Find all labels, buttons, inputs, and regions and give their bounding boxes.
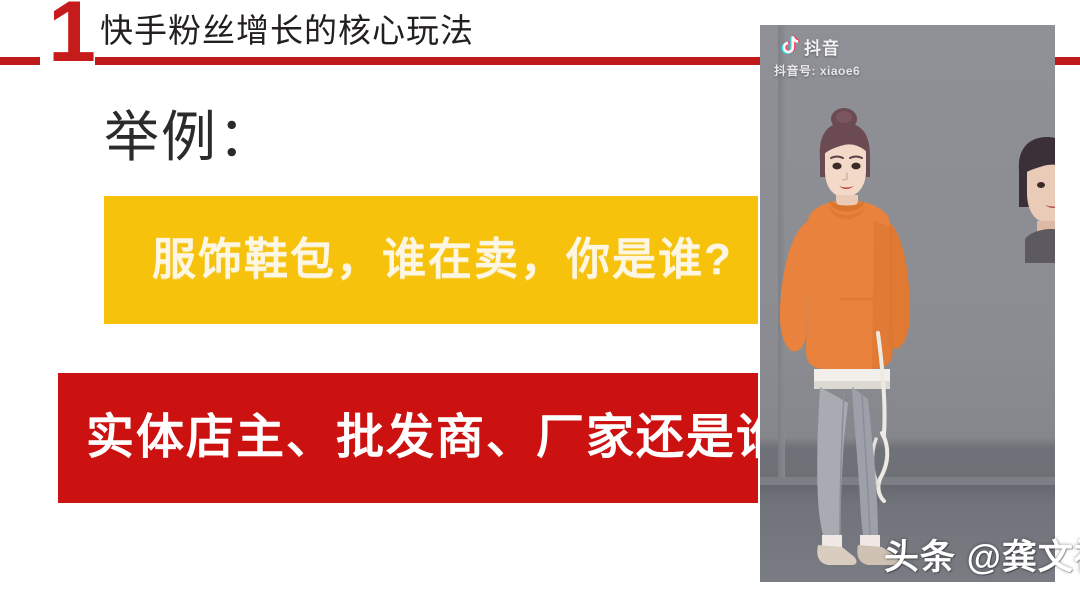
page-title: 快手粉丝增长的核心玩法 [100, 11, 474, 51]
douyin-app-name: 抖音 [804, 34, 840, 59]
slide-canvas: 1 快手粉丝增长的核心玩法 举例： 服饰鞋包，谁在卖，你是谁? 实体店主、批发商… [0, 0, 1080, 598]
douyin-account-id: 抖音号: xiaoe6 [774, 62, 974, 79]
douyin-watermark: 抖音 抖音号: xiaoe6 [774, 33, 974, 79]
yellow-callout-text: 服饰鞋包，谁在卖，你是谁? [104, 233, 733, 287]
illustrated-person [778, 103, 928, 573]
red-callout-band: 实体店主、批发商、厂家还是谁? [58, 373, 758, 503]
video-preview-panel[interactable]: 抖音 抖音号: xiaoe6 [760, 25, 1055, 582]
toutiao-watermark: 头条 @龚文祥 [884, 536, 1080, 580]
yellow-callout-band: 服饰鞋包，谁在卖，你是谁? [104, 196, 758, 324]
douyin-music-note-icon [774, 33, 798, 59]
background-person [1003, 133, 1055, 263]
red-callout-text: 实体店主、批发商、厂家还是谁? [58, 409, 817, 467]
example-label: 举例： [104, 104, 275, 170]
